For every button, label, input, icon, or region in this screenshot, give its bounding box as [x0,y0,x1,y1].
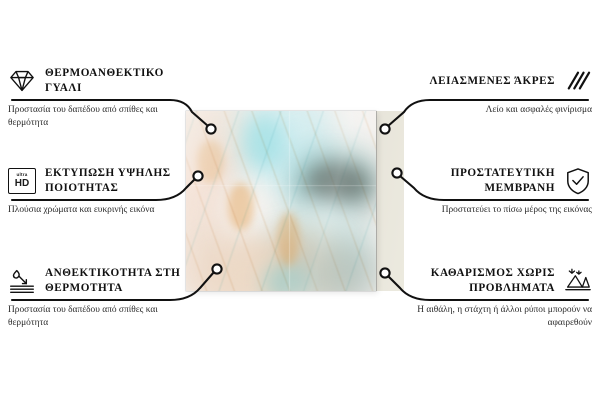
feature-easy-cleaning[interactable]: ΚΑΘΑΡΙΣΜΟΣ ΧΩΡΙΣ ΠΡΟΒΛΗΜΑΤΑ Η αιθάλη, η … [406,264,592,331]
feature-header: ΑΝΘΕΚΤΙΚΟΤΗΤΑ ΣΤΗ ΘΕΡΜΟΤΗΤΑ [8,264,194,298]
heat-resistance-icon [8,267,36,295]
ultra-hd-badge-bottom: HD [15,179,29,189]
easy-clean-icon [564,267,592,295]
feature-header: ultra HD ΕΚΤΥΠΩΣΗ ΥΨΗΛΗΣ ΠΟΙΟΤΗΤΑΣ [8,164,194,198]
feature-header: ΛΕΙΑΣΜΕΝΕΣ ΆΚΡΕΣ [406,64,592,98]
polished-edges-icon [564,67,592,95]
feature-heat-resistant-glass[interactable]: ΘΕΡΜΟΑΝΘΕΚΤΙΚΟ ΓΥΑΛΙ Προστασία του δαπέδ… [8,64,194,131]
shield-check-icon [564,167,592,195]
feature-header: ΚΑΘΑΡΙΣΜΟΣ ΧΩΡΙΣ ΠΡΟΒΛΗΜΑΤΑ [406,264,592,298]
feature-title: ΠΡΟΣΤΑΤΕΥΤΙΚΗ ΜΕΜΒΡΑΝΗ [406,166,555,196]
feature-title: ΘΕΡΜΟΑΝΘΕΚΤΙΚΟ ΓΥΑΛΙ [45,66,194,96]
feature-description: Η αιθάλη, η στάχτη ή άλλοι ρύποι μπορούν… [406,304,592,331]
feature-description: Λείο και ασφαλές φινίρισμα [406,104,592,117]
feature-title: ΕΚΤΥΠΩΣΗ ΥΨΗΛΗΣ ΠΟΙΟΤΗΤΑΣ [45,166,194,196]
feature-polished-edges[interactable]: ΛΕΙΑΣΜΕΝΕΣ ΆΚΡΕΣ Λείο και ασφαλές φινίρι… [406,64,592,117]
feature-high-quality-print[interactable]: ultra HD ΕΚΤΥΠΩΣΗ ΥΨΗΛΗΣ ΠΟΙΟΤΗΤΑΣ Πλούσ… [8,164,194,217]
product-image[interactable] [186,111,376,291]
feature-description: Προστασία του δαπέδου από σπίθες και θερ… [8,104,194,131]
feature-description: Προστασία του δαπέδου από σπίθες και θερ… [8,304,194,331]
diamond-icon [8,67,36,95]
teal-veins [186,111,376,291]
feature-protective-membrane[interactable]: ΠΡΟΣΤΑΤΕΥΤΙΚΗ ΜΕΜΒΡΑΝΗ Προστατεύει το πί… [406,164,592,217]
ultra-hd-icon: ultra HD [8,167,36,195]
feature-header: ΘΕΡΜΟΑΝΘΕΚΤΙΚΟ ΓΥΑΛΙ [8,64,194,98]
feature-title: ΚΑΘΑΡΙΣΜΟΣ ΧΩΡΙΣ ΠΡΟΒΛΗΜΑΤΑ [406,266,555,296]
feature-header: ΠΡΟΣΤΑΤΕΥΤΙΚΗ ΜΕΜΒΡΑΝΗ [406,164,592,198]
feature-description: Προστατεύει το πίσω μέρος της εικόνας [406,204,592,217]
feature-title: ΛΕΙΑΣΜΕΝΕΣ ΆΚΡΕΣ [430,74,555,89]
feature-heat-resistance[interactable]: ΑΝΘΕΚΤΙΚΟΤΗΤΑ ΣΤΗ ΘΕΡΜΟΤΗΤΑ Προστασία το… [8,264,194,331]
feature-description: Πλούσια χρώματα και ευκρινής εικόνα [8,204,194,217]
feature-title: ΑΝΘΕΚΤΙΚΟΤΗΤΑ ΣΤΗ ΘΕΡΜΟΤΗΤΑ [45,266,194,296]
